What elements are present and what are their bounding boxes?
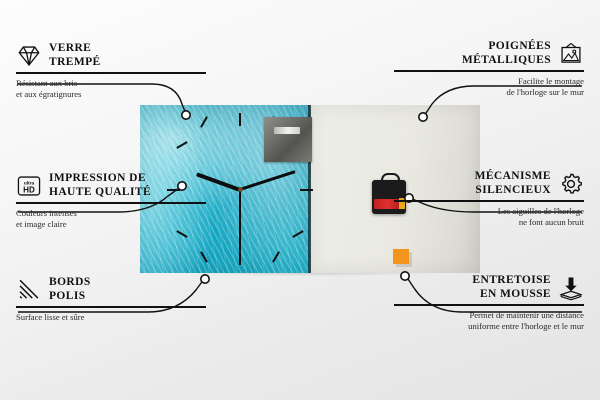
gear-icon (558, 171, 584, 197)
callout-marker-dot (419, 113, 427, 121)
feature-subtitle-line2: uniforme entre l'horloge et le mur (468, 321, 584, 331)
framed-picture-hook-icon (558, 41, 584, 67)
feature-title: BORDS POLIS (49, 276, 91, 303)
infographic-canvas: VERRE TREMPÉ Résistant aux bris et aux é… (0, 0, 600, 400)
feature-title-line2: POLIS (49, 290, 86, 302)
callout-marker-dot (182, 111, 190, 119)
feature-title: MÉCANISME SILENCIEUX (475, 170, 551, 197)
feature-title-line1: ENTRETOISE (472, 274, 551, 286)
feature-subtitle-line1: Facilite le montage (518, 76, 584, 86)
feature-divider (394, 304, 584, 306)
feature-subtitle-line2: de l'horloge sur le mur (507, 87, 584, 97)
feature-header: ultra HD IMPRESSION DE HAUTE QUALITÉ (16, 172, 206, 199)
feature-mecanisme-silencieux: MÉCANISME SILENCIEUX Les aiguilles de l'… (394, 170, 584, 228)
svg-text:HD: HD (23, 185, 35, 194)
feature-divider (16, 202, 206, 204)
feature-title-line2: MÉTALLIQUES (462, 54, 551, 66)
feature-header: BORDS POLIS (16, 276, 206, 303)
feature-subtitle-line1: Résistant aux bris (16, 78, 77, 88)
feature-header: MÉCANISME SILENCIEUX (394, 170, 584, 197)
feature-title-line1: BORDS (49, 276, 91, 288)
feature-subtitle: Facilite le montage de l'horloge sur le … (394, 76, 584, 98)
feature-title-line2: TREMPÉ (49, 56, 101, 68)
arrow-on-pad-icon (558, 275, 584, 301)
feature-subtitle-line2: et aux égratignures (16, 89, 81, 99)
feature-header: VERRE TREMPÉ (16, 42, 206, 69)
feature-title-line1: VERRE (49, 42, 91, 54)
feature-impression-haute-qualite: ultra HD IMPRESSION DE HAUTE QUALITÉ Cou… (16, 172, 206, 230)
feature-subtitle-line1: Surface lisse et sûre (16, 312, 85, 322)
feature-bords-polis: BORDS POLIS Surface lisse et sûre (16, 276, 206, 323)
feature-title-line1: MÉCANISME (475, 170, 551, 182)
feature-subtitle-line2: et image claire (16, 219, 67, 229)
feature-subtitle: Résistant aux bris et aux égratignures (16, 78, 206, 100)
feature-title: ENTRETOISE EN MOUSSE (472, 274, 551, 301)
feature-subtitle: Couleurs intenses et image claire (16, 208, 206, 230)
feature-divider (394, 70, 584, 72)
feature-verre-trempe: VERRE TREMPÉ Résistant aux bris et aux é… (16, 42, 206, 100)
feature-divider (16, 72, 206, 74)
feature-entretoise-en-mousse: ENTRETOISE EN MOUSSE Permet de maintenir… (394, 274, 584, 332)
feature-poignees-metalliques: POIGNÉES MÉTALLIQUES Facilite le montage… (394, 40, 584, 98)
feature-divider (16, 306, 206, 308)
feature-subtitle: Surface lisse et sûre (16, 312, 206, 323)
feature-title: IMPRESSION DE HAUTE QUALITÉ (49, 172, 151, 199)
feature-title-line1: IMPRESSION DE (49, 172, 146, 184)
feature-title-line2: EN MOUSSE (480, 288, 551, 300)
diamond-icon (16, 43, 42, 69)
polished-edges-icon (16, 277, 42, 303)
feature-title: VERRE TREMPÉ (49, 42, 101, 69)
feature-subtitle: Permet de maintenir une distance uniform… (394, 310, 584, 332)
feature-subtitle: Les aiguilles de l'horloge ne font aucun… (394, 206, 584, 228)
feature-subtitle-line2: ne font aucun bruit (519, 217, 584, 227)
feature-title-line2: SILENCIEUX (475, 184, 551, 196)
feature-subtitle-line1: Permet de maintenir une distance (469, 310, 584, 320)
feature-header: POIGNÉES MÉTALLIQUES (394, 40, 584, 67)
feature-title-line1: POIGNÉES (488, 40, 551, 52)
feature-title-line2: HAUTE QUALITÉ (49, 186, 151, 198)
feature-divider (394, 200, 584, 202)
feature-subtitle-line1: Les aiguilles de l'horloge (498, 206, 584, 216)
ultra-hd-badge-icon: ultra HD (16, 173, 42, 199)
feature-header: ENTRETOISE EN MOUSSE (394, 274, 584, 301)
feature-title: POIGNÉES MÉTALLIQUES (462, 40, 551, 67)
feature-subtitle-line1: Couleurs intenses (16, 208, 77, 218)
